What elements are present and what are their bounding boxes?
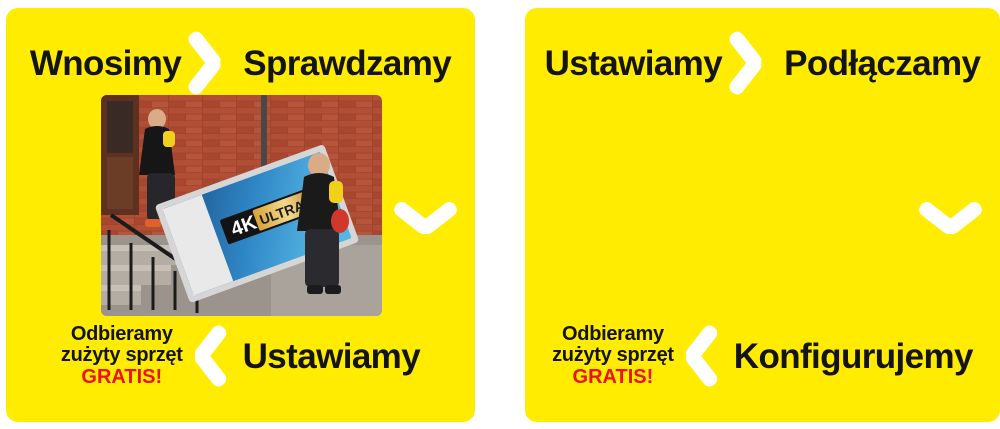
pickup-line-1: Odbieramy (552, 324, 674, 346)
installation-steps-banner: Wnosimy Sprawdzamy (0, 0, 1000, 429)
chevron-left-icon (684, 323, 718, 389)
step-label-podlaczamy: Podłączamy (784, 46, 980, 81)
pickup-free-badge: GRATIS! (61, 367, 183, 389)
steps-panel-left: Wnosimy Sprawdzamy (6, 8, 475, 422)
chevron-down-icon (930, 201, 998, 237)
pickup-offer-left: Odbieramy zużyty sprzęt GRATIS! (61, 324, 183, 389)
step-label-konfigurujemy: Konfigurujemy (734, 339, 973, 374)
pickup-line-2: zużyty sprzęt (552, 345, 674, 367)
bottom-step-row-right: Odbieramy zużyty sprzęt GRATIS! Konfigur… (525, 312, 1000, 400)
chevron-right-icon (736, 29, 770, 97)
step-label-ustawiamy-2: Ustawiamy (545, 46, 722, 81)
pickup-free-badge: GRATIS! (552, 367, 674, 389)
chevron-down-icon (405, 201, 473, 237)
photo-carrying-tv: 4K ULTRA HD (101, 95, 382, 316)
step-label-wnosimy: Wnosimy (30, 46, 181, 81)
step-label-ustawiamy: Ustawiamy (243, 339, 420, 374)
step-label-sprawdzamy: Sprawdzamy (243, 46, 451, 81)
chevron-right-icon (195, 29, 229, 97)
steps-panel-right: Ustawiamy Podłączamy (525, 8, 1000, 422)
chevron-left-icon (193, 323, 227, 389)
top-step-row-right: Ustawiamy Podłączamy (525, 32, 1000, 94)
top-step-row-left: Wnosimy Sprawdzamy (6, 32, 475, 94)
pickup-offer-right: Odbieramy zużyty sprzęt GRATIS! (552, 324, 674, 389)
pickup-line-1: Odbieramy (61, 324, 183, 346)
bottom-step-row-left: Odbieramy zużyty sprzęt GRATIS! Ustawiam… (6, 312, 475, 400)
pickup-line-2: zużyty sprzęt (61, 345, 183, 367)
